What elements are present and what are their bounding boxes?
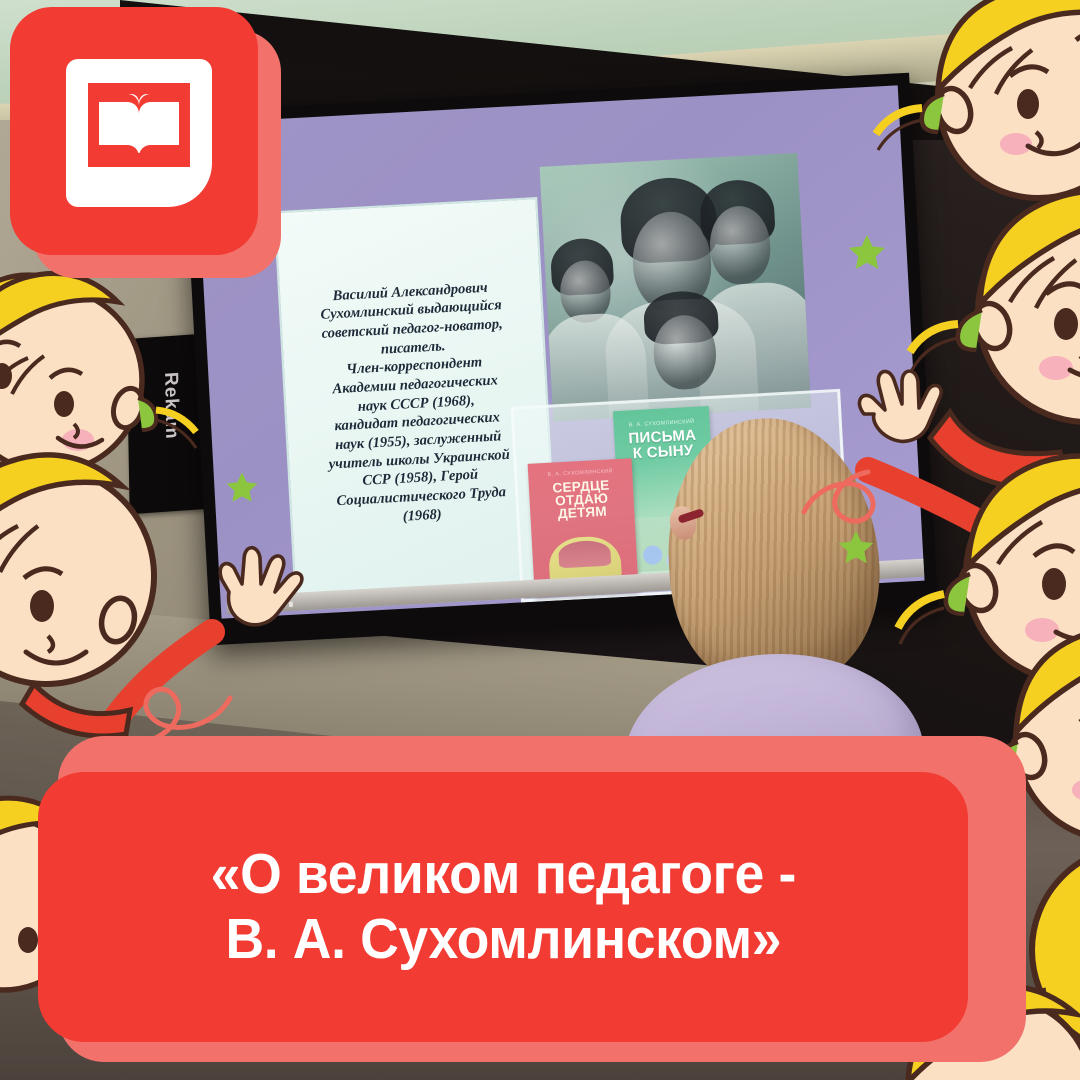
- star-decoration-1: [846, 232, 888, 274]
- sticker-overlay: «О великом педагоге - В. А. Сухомлинском…: [0, 0, 1080, 1080]
- caption-title: «О великом педагоге - В. А. Сухомлинском…: [210, 842, 795, 972]
- cartoon-kid-left-lower: [0, 430, 204, 730]
- caption-banner: «О великом педагоге - В. А. Сухомлинском…: [38, 772, 968, 1042]
- star-decoration-3: [224, 470, 260, 506]
- open-book-icon: [88, 83, 190, 167]
- social-media-poster: Rekam Василий Александрович Сухомлинский…: [0, 0, 1080, 1080]
- library-logo-badge[interactable]: [10, 7, 258, 255]
- logo-inner-shape: [66, 59, 212, 207]
